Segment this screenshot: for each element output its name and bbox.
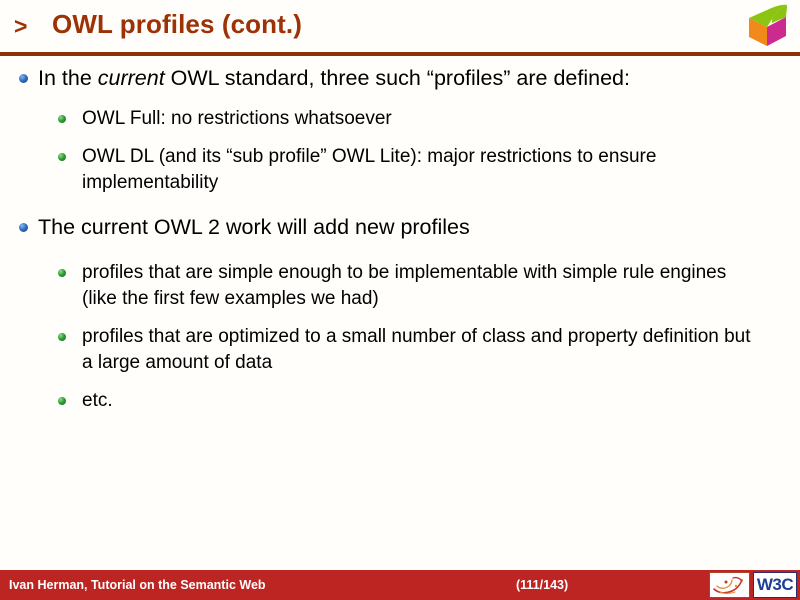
list-item-label: The current OWL 2 work will add new prof…: [38, 215, 470, 239]
spacer: [0, 246, 800, 260]
page-indicator: (111/143): [516, 577, 568, 593]
slide: > OWL profiles (cont.) In the current OW…: [0, 0, 800, 600]
text-run: In the: [38, 66, 98, 90]
list-item-label: OWL DL (and its “sub profile” OWL Lite):…: [82, 146, 656, 193]
spacer: [0, 97, 800, 106]
list-item: OWL DL (and its “sub profile” OWL Lite):…: [0, 144, 800, 196]
list-item-label: OWL Full: no restrictions whatsoever: [82, 108, 392, 129]
page-title: OWL profiles (cont.): [52, 5, 302, 43]
footer-logos: W3C: [709, 572, 797, 598]
list-item-label: profiles that are optimized to a small n…: [82, 326, 751, 373]
list-item-label: etc.: [82, 390, 113, 411]
slide-footer: Ivan Herman, Tutorial on the Semantic We…: [0, 570, 800, 600]
w3c-logo: W3C: [753, 572, 797, 598]
bullet-marker-blue: [19, 74, 28, 83]
arabic-calligraphy-logo: [709, 572, 750, 598]
slide-content: In the current OWL standard, three such …: [0, 64, 800, 554]
footer-author-title: Ivan Herman, Tutorial on the Semantic We…: [9, 577, 266, 593]
title-marker: >: [14, 9, 27, 43]
header-divider: [0, 52, 800, 56]
bullet-marker-green: [58, 397, 66, 405]
bullet-marker-green: [58, 153, 66, 161]
list-item: OWL Full: no restrictions whatsoever: [0, 106, 800, 132]
spacer: [0, 199, 800, 213]
text-run: OWL standard, three such “profiles” are …: [165, 66, 630, 90]
spacer: [0, 135, 800, 144]
spacer: [0, 315, 800, 324]
list-item-label: profiles that are simple enough to be im…: [82, 262, 726, 309]
list-item-label: In the current OWL standard, three such …: [38, 66, 630, 90]
spacer: [0, 379, 800, 388]
w3c-logo-label: W3C: [757, 576, 793, 594]
list-item: etc.: [0, 388, 800, 414]
list-item: In the current OWL standard, three such …: [0, 64, 800, 93]
bullet-marker-green: [58, 115, 66, 123]
list-item: The current OWL 2 work will add new prof…: [0, 213, 800, 242]
bullet-marker-green: [58, 269, 66, 277]
slide-header: > OWL profiles (cont.): [0, 0, 800, 56]
text-run-italic: current: [98, 66, 165, 90]
bullet-marker-blue: [19, 223, 28, 232]
list-item: profiles that are simple enough to be im…: [0, 260, 800, 312]
bullet-marker-green: [58, 333, 66, 341]
list-item: profiles that are optimized to a small n…: [0, 324, 800, 376]
owl-cube-logo: [744, 2, 792, 48]
